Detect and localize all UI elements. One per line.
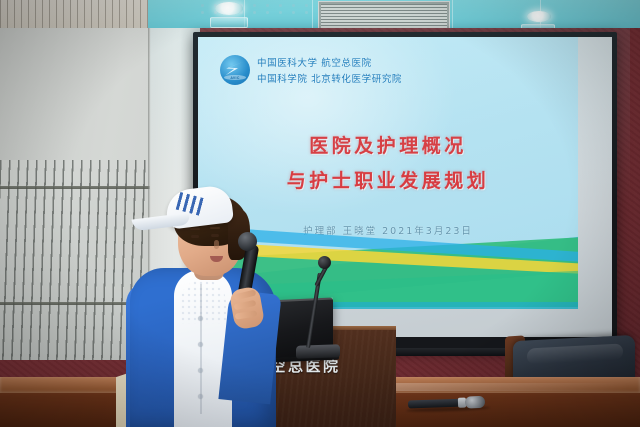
handheld-microphone [408,395,496,410]
slide-org-line-1: 中国医科大学 航空总医院 [257,55,402,69]
gooseneck-microphone-head [318,256,331,269]
slat-rail [0,186,150,189]
shirt-button [198,316,203,321]
microphone-head [465,396,485,409]
ceiling-light-slot [210,17,248,28]
shirt-lace-detail [180,280,226,324]
nurse-presenter [128,196,276,427]
slide-org-line-2: 中国科学院 北京转化医学研究院 [257,71,402,85]
avic-swoosh-shape [225,61,246,76]
shirt-button [198,368,203,373]
slide-org-names: 中国医科大学 航空总医院 中国科学院 北京转化医学研究院 [257,55,402,85]
avic-logo-mark-text: AVIC [230,76,239,80]
eye-right [211,234,219,237]
shirt-button [198,394,203,399]
shirt-button [198,342,203,347]
eyebrow-right [210,227,220,229]
avic-logo-icon: AVIC [220,55,250,85]
slide-title: 医院及护理概况 与护士职业发展规划 [198,129,578,199]
slide-logo-row: AVIC 中国医科大学 航空总医院 中国科学院 北京转化医学研究院 [220,55,402,85]
eye-left [191,235,199,238]
avic-logo-band: AVIC [224,75,246,80]
ceiling-downlight [527,11,551,22]
slide-title-line-1: 医院及护理概况 [198,129,578,164]
ceiling-left-panel [0,0,150,30]
ceiling-texture-dots [196,2,316,16]
eyebrow-left [190,228,200,230]
ceiling-air-vent [318,1,450,31]
nose [214,240,219,249]
gooseneck-microphone-base [296,344,340,359]
nurse-cap-stripe [176,192,206,216]
presentation-photo-scene: AVIC 中国医科大学 航空总医院 中国科学院 北京转化医学研究院 医院及护理概… [0,0,640,427]
ceiling-downlight [215,2,243,15]
